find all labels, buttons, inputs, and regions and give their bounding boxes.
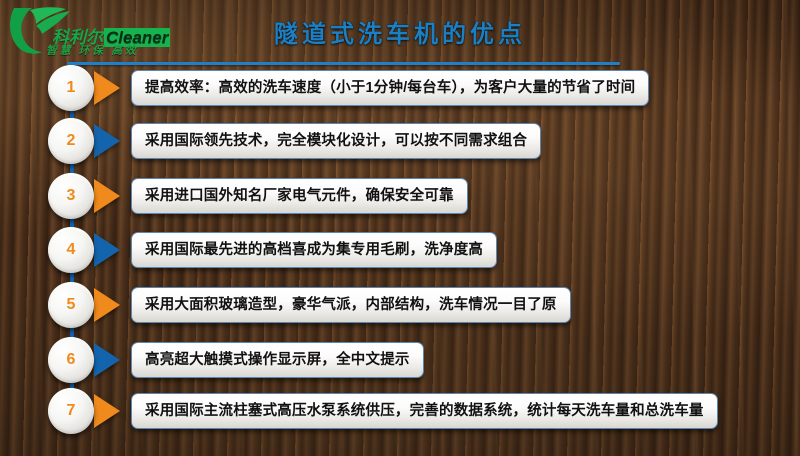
step-number-label: 3: [67, 187, 76, 205]
page-title: 隧道式洗车机的优点: [0, 14, 800, 49]
header-divider: [67, 62, 620, 65]
step-number-label: 5: [67, 296, 76, 314]
benefit-item[interactable]: 采用进口国外知名厂家电气元件，确保安全可靠: [131, 178, 468, 214]
benefit-item[interactable]: 采用大面积玻璃造型，豪华气派，内部结构，洗车情况一目了原: [131, 287, 571, 323]
benefit-item[interactable]: 采用国际主流柱塞式高压水泵系统供压，完善的数据系统，统计每天洗车量和总洗车量: [131, 393, 718, 429]
benefit-item-text: 高亮超大触摸式操作显示屏，全中文提示: [145, 353, 410, 368]
benefit-item[interactable]: 采用国际最先进的高档喜成为集专用毛刷，洗净度高: [131, 232, 497, 268]
step-connector-line: [70, 273, 74, 282]
benefit-item-text: 采用国际领先技术，完全模块化设计，可以按不同需求组合: [145, 134, 527, 149]
step-number-label: 1: [67, 79, 76, 97]
step-arrow-icon: [94, 71, 120, 105]
step-arrow-icon: [94, 124, 120, 158]
step-connector-line: [70, 328, 74, 337]
benefit-item-text: 提高效率：高效的洗车速度（小于1分钟/每台车），为客户大量的节省了时间: [145, 81, 635, 96]
step-arrow-icon: [94, 288, 120, 322]
step-number-badge[interactable]: 1: [48, 65, 94, 111]
step-number-label: 6: [67, 351, 76, 369]
step-number-label: 2: [67, 132, 76, 150]
benefit-item-text: 采用进口国外知名厂家电气元件，确保安全可靠: [145, 189, 454, 204]
step-connector-line: [70, 111, 74, 118]
benefit-item[interactable]: 提高效率：高效的洗车速度（小于1分钟/每台车），为客户大量的节省了时间: [131, 70, 649, 106]
benefits-list: 1提高效率：高效的洗车速度（小于1分钟/每台车），为客户大量的节省了时间2采用国…: [0, 66, 800, 456]
step-number-badge[interactable]: 7: [48, 388, 94, 434]
benefit-item[interactable]: 采用国际领先技术，完全模块化设计，可以按不同需求组合: [131, 123, 541, 159]
slide-header: 科利尔Cleaner 智慧 环保 高效 隧道式洗车机的优点: [0, 0, 800, 66]
step-arrow-icon: [94, 179, 120, 213]
step-connector-line: [70, 164, 74, 173]
step-connector-line: [70, 219, 74, 227]
slide-canvas: 科利尔Cleaner 智慧 环保 高效 隧道式洗车机的优点 1提高效率：高效的洗…: [0, 0, 800, 456]
benefit-item[interactable]: 高亮超大触摸式操作显示屏，全中文提示: [131, 342, 424, 378]
step-number-badge[interactable]: 6: [48, 337, 94, 383]
step-number-label: 7: [67, 402, 76, 420]
benefit-item-text: 采用国际主流柱塞式高压水泵系统供压，完善的数据系统，统计每天洗车量和总洗车量: [145, 404, 704, 419]
step-arrow-icon: [94, 233, 120, 267]
step-arrow-icon: [94, 394, 120, 428]
benefit-item-text: 采用大面积玻璃造型，豪华气派，内部结构，洗车情况一目了原: [145, 298, 557, 313]
step-number-badge[interactable]: 5: [48, 282, 94, 328]
step-arrow-icon: [94, 343, 120, 377]
benefit-item-text: 采用国际最先进的高档喜成为集专用毛刷，洗净度高: [145, 243, 483, 258]
step-number-badge[interactable]: 3: [48, 173, 94, 219]
step-number-badge[interactable]: 4: [48, 227, 94, 273]
step-number-label: 4: [67, 241, 76, 259]
step-number-badge[interactable]: 2: [48, 118, 94, 164]
